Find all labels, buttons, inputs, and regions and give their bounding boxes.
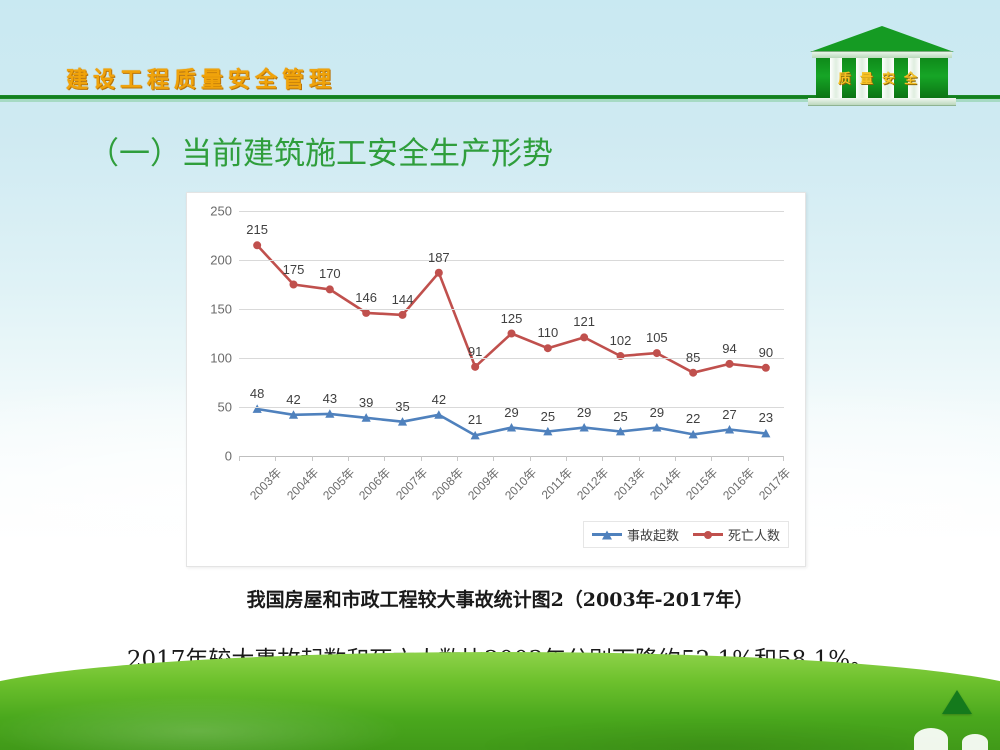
triangle-marker-icon bbox=[602, 530, 612, 539]
chart-marker bbox=[653, 349, 661, 357]
chart-x-tick-label: 2010年 bbox=[500, 464, 539, 503]
chart-x-tickmark bbox=[239, 456, 240, 461]
chart-marker bbox=[399, 311, 407, 319]
chart-data-label: 121 bbox=[573, 314, 595, 329]
chart-y-tick-label: 50 bbox=[218, 400, 232, 415]
chart-panel: 2003年2004年2005年2006年2007年2008年2009年2010年… bbox=[186, 192, 806, 567]
chart-x-tickmark bbox=[783, 456, 784, 461]
chart-gridline bbox=[239, 456, 784, 457]
chart-data-label: 146 bbox=[355, 290, 377, 305]
chart-y-tick-label: 0 bbox=[225, 449, 232, 464]
legend-item-deaths[interactable]: 死亡人数 bbox=[693, 525, 780, 544]
circle-marker-icon bbox=[704, 531, 712, 539]
chart-data-label: 27 bbox=[722, 407, 736, 422]
chart-x-tickmark bbox=[711, 456, 712, 461]
cloud-decor-1 bbox=[914, 728, 948, 750]
page-title: （一）当前建筑施工安全生产形势 bbox=[88, 128, 553, 173]
chart-data-label: 29 bbox=[504, 405, 518, 420]
legend-label: 死亡人数 bbox=[728, 525, 780, 544]
chart-data-label: 21 bbox=[468, 412, 482, 427]
chart-x-tickmark bbox=[748, 456, 749, 461]
chart-marker bbox=[580, 333, 588, 341]
chart-y-tick-label: 100 bbox=[210, 351, 232, 366]
chart-data-label: 144 bbox=[392, 292, 414, 307]
chart-data-label: 48 bbox=[250, 386, 264, 401]
quality-safety-logo: 质量安全 bbox=[808, 26, 956, 106]
chart-x-tickmark bbox=[275, 456, 276, 461]
chart-data-label: 42 bbox=[286, 392, 300, 407]
header-band: 建设工程质量安全管理 质量安全 bbox=[0, 0, 1000, 110]
grass-footer-shading bbox=[0, 652, 1000, 750]
chart-x-tickmark bbox=[602, 456, 603, 461]
chart-marker bbox=[544, 344, 552, 352]
chart-marker bbox=[508, 330, 516, 338]
chart-data-label: 110 bbox=[537, 325, 558, 340]
chart-x-tickmark bbox=[493, 456, 494, 461]
chart-marker bbox=[326, 285, 334, 293]
chart-x-tick-label: 2008年 bbox=[427, 464, 466, 503]
chart-data-label: 175 bbox=[283, 262, 305, 277]
legend-label: 事故起数 bbox=[627, 525, 679, 544]
chart-data-label: 23 bbox=[759, 410, 773, 425]
chart-x-tick-label: 2017年 bbox=[754, 464, 793, 503]
chart-x-tickmark bbox=[566, 456, 567, 461]
cloud-decor-2 bbox=[962, 734, 988, 750]
chart-marker bbox=[762, 364, 770, 372]
chart-data-label: 35 bbox=[395, 399, 409, 414]
logo-base bbox=[808, 98, 956, 106]
chart-marker bbox=[362, 309, 370, 317]
chart-data-label: 22 bbox=[686, 411, 700, 426]
chart-marker bbox=[471, 363, 479, 371]
chart-y-tick-label: 250 bbox=[210, 204, 232, 219]
chart-x-tickmark bbox=[421, 456, 422, 461]
chart-x-tick-label: 2006年 bbox=[355, 464, 394, 503]
legend-item-accidents[interactable]: 事故起数 bbox=[592, 525, 679, 544]
chart-x-tickmark bbox=[348, 456, 349, 461]
chart-data-label: 85 bbox=[686, 350, 700, 365]
chart-data-label: 91 bbox=[468, 344, 482, 359]
logo-roof-icon bbox=[810, 26, 954, 52]
chart-data-label: 170 bbox=[319, 266, 341, 281]
header-title: 建设工程质量安全管理 bbox=[66, 62, 336, 94]
chart-data-label: 90 bbox=[759, 345, 773, 360]
chart-data-label: 125 bbox=[501, 311, 523, 326]
chart-data-label: 42 bbox=[432, 392, 446, 407]
legend-swatch bbox=[693, 533, 723, 536]
chart-gridline bbox=[239, 358, 784, 359]
chart-x-tick-label: 2016年 bbox=[718, 464, 757, 503]
chart-marker bbox=[253, 241, 261, 249]
chart-y-tick-label: 150 bbox=[210, 302, 232, 317]
legend-swatch bbox=[592, 533, 622, 536]
chart-x-tick-label: 2003年 bbox=[246, 464, 285, 503]
chart-gridline bbox=[239, 211, 784, 212]
chart-data-label: 105 bbox=[646, 330, 668, 345]
chart-plot-area: 2003年2004年2005年2006年2007年2008年2009年2010年… bbox=[239, 211, 784, 456]
chart-x-tick-label: 2014年 bbox=[645, 464, 684, 503]
chart-caption: 我国房屋和市政工程较大事故统计图2（2003年-2017年） bbox=[0, 585, 1000, 612]
chart-data-label: 39 bbox=[359, 395, 373, 410]
chart-x-tick-label: 2009年 bbox=[464, 464, 503, 503]
chart-data-label: 215 bbox=[246, 222, 268, 237]
chart-x-tick-label: 2013年 bbox=[609, 464, 648, 503]
chart-x-tick-label: 2007年 bbox=[391, 464, 430, 503]
chart-data-label: 29 bbox=[577, 405, 591, 420]
chart-legend: 事故起数死亡人数 bbox=[583, 521, 789, 548]
chart-x-tickmark bbox=[457, 456, 458, 461]
chart-x-axis: 2003年2004年2005年2006年2007年2008年2009年2010年… bbox=[239, 456, 784, 516]
chart-x-tick-label: 2005年 bbox=[318, 464, 357, 503]
chart-data-label: 94 bbox=[722, 341, 736, 356]
chart-marker bbox=[726, 360, 734, 368]
chart-data-label: 25 bbox=[613, 409, 627, 424]
chart-x-tickmark bbox=[639, 456, 640, 461]
chart-data-label: 25 bbox=[541, 409, 555, 424]
chart-x-tick-label: 2004年 bbox=[282, 464, 321, 503]
triangle-up-icon[interactable] bbox=[942, 690, 972, 714]
chart-data-label: 187 bbox=[428, 250, 450, 265]
chart-x-tick-label: 2011年 bbox=[537, 464, 576, 503]
logo-label: 质量安全 bbox=[816, 68, 948, 87]
chart-y-tick-label: 200 bbox=[210, 253, 232, 268]
chart-marker bbox=[689, 369, 697, 377]
chart-data-label: 102 bbox=[610, 333, 632, 348]
chart-x-tickmark bbox=[675, 456, 676, 461]
chart-x-tickmark bbox=[530, 456, 531, 461]
chart-x-tick-label: 2015年 bbox=[682, 464, 721, 503]
slide-canvas: 建设工程质量安全管理 质量安全 （一）当前建筑施工安全生产形势 2003年200… bbox=[0, 0, 1000, 750]
chart-x-tickmark bbox=[312, 456, 313, 461]
chart-data-label: 43 bbox=[323, 391, 337, 406]
logo-architrave bbox=[812, 51, 952, 58]
chart-x-tickmark bbox=[384, 456, 385, 461]
chart-gridline bbox=[239, 260, 784, 261]
chart-marker bbox=[435, 269, 443, 277]
chart-data-label: 29 bbox=[650, 405, 664, 420]
chart-x-tick-label: 2012年 bbox=[573, 464, 612, 503]
chart-marker bbox=[290, 281, 298, 289]
